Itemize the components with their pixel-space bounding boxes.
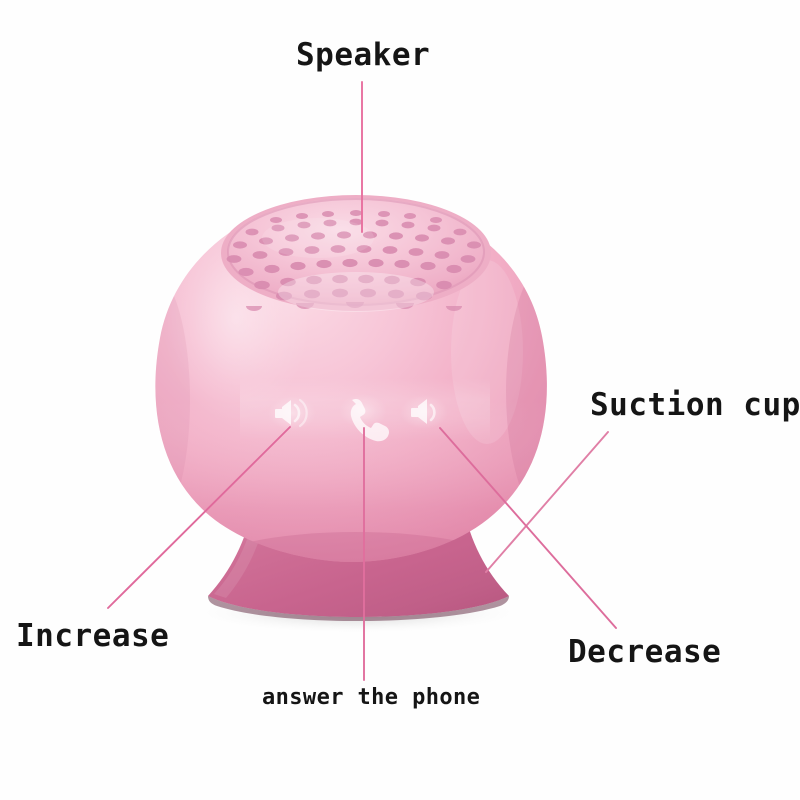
callout-label-speaker: Speaker (296, 40, 430, 71)
increase-button[interactable] (268, 396, 316, 430)
callout-label-suction-cup: Suction cup (590, 390, 800, 421)
callout-label-answer-the-phone: answer the phone (262, 687, 480, 709)
decrease-button[interactable] (400, 395, 448, 429)
callout-label-decrease: Decrease (568, 637, 721, 668)
product-diagram-scene: Speaker Suction cup Increase Decrease an… (0, 0, 800, 800)
callout-label-increase: Increase (16, 621, 169, 652)
